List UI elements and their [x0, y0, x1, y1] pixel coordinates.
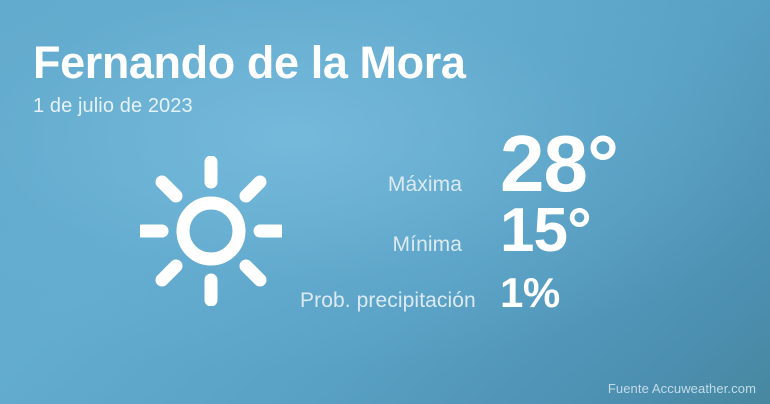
reading-row-maxima: Máxima 28°: [300, 128, 740, 200]
card-header: Fernando de la Mora 1 de julio de 2023: [33, 36, 465, 118]
reading-value-maxima: 28°: [500, 128, 618, 200]
page-title: Fernando de la Mora: [33, 36, 465, 90]
forecast-readings: Máxima 28° Mínima 15° Prob. precipitació…: [300, 128, 740, 330]
reading-value-precipitacion: 1%: [500, 272, 560, 314]
source-attribution: Fuente Accuweather.com: [608, 381, 756, 396]
sun-icon: [140, 156, 282, 306]
reading-row-precipitacion: Prob. precipitación 1%: [300, 272, 740, 330]
reading-label-maxima: Máxima: [300, 173, 500, 197]
reading-label-precipitacion: Prob. precipitación: [300, 289, 500, 313]
reading-row-minima: Mínima 15°: [300, 200, 740, 272]
weather-forecast-card: Fernando de la Mora 1 de julio de 2023 M…: [0, 0, 770, 404]
reading-label-minima: Mínima: [300, 233, 500, 257]
forecast-date: 1 de julio de 2023: [33, 94, 465, 118]
weather-condition-icon: [140, 156, 282, 306]
reading-value-minima: 15°: [500, 200, 591, 262]
